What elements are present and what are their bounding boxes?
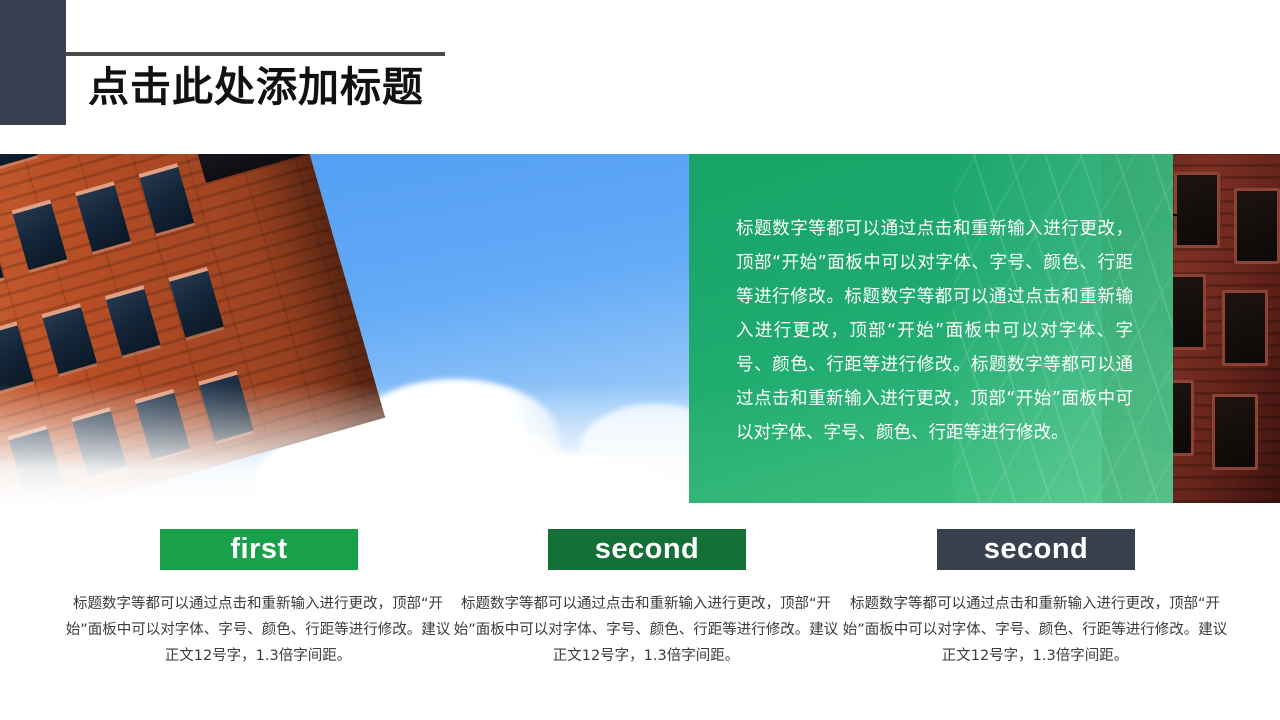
column-label-second[interactable]: second <box>548 529 746 570</box>
slide-header: 点击此处添加标题 <box>0 0 1280 154</box>
column-label-first[interactable]: first <box>160 529 358 570</box>
window <box>1212 394 1258 470</box>
window <box>0 322 34 393</box>
green-text-panel[interactable]: 标题数字等都可以通过点击和重新输入进行更改，顶部“开始”面板中可以对字体、字号、… <box>689 154 1173 503</box>
window <box>0 218 4 289</box>
column-label-third[interactable]: second <box>937 529 1135 570</box>
window <box>168 267 224 338</box>
hero-image-band[interactable]: 标题数字等都可以通过点击和重新输入进行更改，顶部“开始”面板中可以对字体、字号、… <box>0 154 1280 503</box>
title-underline-rule <box>66 52 445 56</box>
window <box>0 154 37 166</box>
column-body-first[interactable]: 标题数字等都可以通过点击和重新输入进行更改，顶部“开始”面板中可以对字体、字号、… <box>63 591 453 669</box>
window <box>12 200 68 271</box>
column-body-second[interactable]: 标题数字等都可以通过点击和重新输入进行更改，顶部“开始”面板中可以对字体、字号、… <box>451 591 841 669</box>
window <box>1222 290 1268 366</box>
window <box>75 181 131 252</box>
three-column-section: first 标题数字等都可以通过点击和重新输入进行更改，顶部“开始”面板中可以对… <box>0 503 1280 720</box>
window <box>105 285 161 356</box>
panel-body-text[interactable]: 标题数字等都可以通过点击和重新输入进行更改，顶部“开始”面板中可以对字体、字号、… <box>736 212 1133 450</box>
window <box>41 303 97 374</box>
window <box>1234 188 1280 264</box>
page-title[interactable]: 点击此处添加标题 <box>88 58 708 118</box>
window <box>1174 172 1220 248</box>
window <box>139 163 195 234</box>
column-body-third[interactable]: 标题数字等都可以通过点击和重新输入进行更改，顶部“开始”面板中可以对字体、字号、… <box>840 591 1230 669</box>
header-accent-block <box>0 0 66 125</box>
